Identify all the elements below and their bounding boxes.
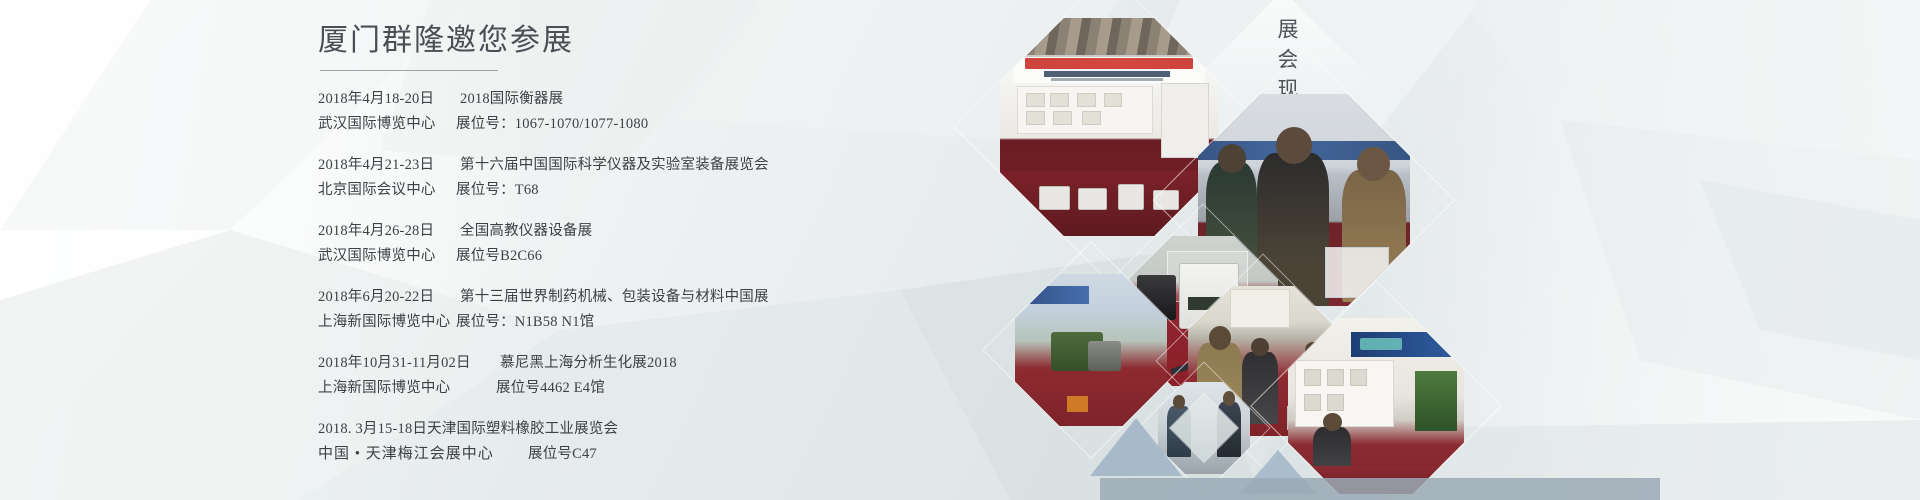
- page-title: 厦门群隆邀您参展: [318, 22, 1018, 60]
- wall-graphic: [1304, 394, 1321, 411]
- wall-graphic: [1304, 369, 1321, 386]
- event-venue: 北京国际会议中心: [318, 178, 438, 199]
- booth-banner: [1013, 55, 1205, 83]
- event-date: 2018年10月31-11月02日: [318, 351, 478, 372]
- banner-headline-bar: [1025, 58, 1194, 69]
- wall-graphic: [1327, 394, 1344, 411]
- event-name: 2018国际衡器展: [438, 87, 563, 108]
- event-date: 2018年4月21-23日: [318, 153, 438, 174]
- wall-graphic: [1104, 93, 1123, 107]
- booth-signage: [1020, 286, 1090, 304]
- instrument-unit: [1078, 188, 1106, 210]
- event-row-secondary: 上海新国际博览中心 展位号：N1B58 N1馆: [318, 310, 1018, 331]
- event-booth: 展位号：1067-1070/1077-1080: [438, 112, 648, 133]
- booth-back-wall: [1017, 86, 1152, 134]
- exhibition-info-panel: 厦门群隆邀您参展 2018年4月18-20日 2018国际衡器展 武汉国际博览中…: [318, 22, 1018, 482]
- event-venue: 上海新国际博览中心: [318, 376, 478, 397]
- wall-graphic: [1053, 111, 1072, 125]
- event-date: 2018年4月18-20日: [318, 87, 438, 108]
- wall-graphic: [1077, 93, 1096, 107]
- wall-graphic: [1327, 369, 1344, 386]
- title-underline-rule: [320, 70, 498, 71]
- booth-wall-panel: [1230, 289, 1290, 328]
- wall-graphic: [1026, 93, 1045, 107]
- event-date: 2018年6月20-22日: [318, 285, 438, 306]
- event-venue: 武汉国际博览中心: [318, 244, 438, 265]
- orange-component: [1067, 396, 1088, 413]
- event-name: 第十六届中国国际科学仪器及实验室装备展览会: [438, 153, 769, 174]
- wall-graphic: [1026, 111, 1045, 125]
- event-name: 慕尼黑上海分析生化展2018: [478, 351, 677, 372]
- event-venue: 中国 • 天津梅江会展中心: [318, 442, 528, 463]
- event-headline: 2018. 3月15-18日天津国际塑料橡胶工业展览会: [318, 417, 618, 438]
- booth-wall-panel: [1295, 360, 1394, 427]
- event-booth: 展位号：T68: [438, 178, 539, 199]
- event-booth: 展位号4462 E4馆: [478, 376, 605, 397]
- event-entry-3: 2018年4月26-28日 全国高教仪器设备展 武汉国际博览中心 展位号B2C6…: [318, 219, 1018, 265]
- event-row-primary: 2018年6月20-22日 第十三届世界制药机械、包装设备与材料中国展: [318, 285, 1018, 306]
- green-machine: [1415, 371, 1457, 431]
- event-entry-4: 2018年6月20-22日 第十三届世界制药机械、包装设备与材料中国展 上海新国…: [318, 285, 1018, 331]
- event-row-primary: 2018年4月18-20日 2018国际衡器展: [318, 87, 1018, 108]
- event-venue: 上海新国际博览中心: [318, 310, 438, 331]
- event-row-secondary: 武汉国际博览中心 展位号B2C66: [318, 244, 1018, 265]
- event-row-primary: 2018. 3月15-18日天津国际塑料橡胶工业展览会: [318, 417, 1018, 438]
- event-entry-1: 2018年4月18-20日 2018国际衡器展 武汉国际博览中心 展位号：106…: [318, 87, 1018, 133]
- instrument-unit: [1039, 186, 1070, 210]
- decorative-triangle-left: [1090, 418, 1182, 476]
- booth-logo: [1360, 338, 1402, 349]
- wall-graphic: [1082, 111, 1101, 125]
- event-entry-6: 2018. 3月15-18日天津国际塑料橡胶工业展览会 中国 • 天津梅江会展中…: [318, 417, 1018, 463]
- event-date: 2018年4月26-28日: [318, 219, 438, 240]
- machinery-booth-photo-content: [1015, 274, 1167, 426]
- instrument-unit: [1118, 184, 1144, 210]
- event-row-primary: 2018年4月21-23日 第十六届中国国际科学仪器及实验室装备展览会: [318, 153, 1018, 174]
- event-row-primary: 2018年10月31-11月02日 慕尼黑上海分析生化展2018: [318, 351, 1018, 372]
- event-row-secondary: 北京国际会议中心 展位号：T68: [318, 178, 1018, 199]
- banner-english-bar: [1051, 78, 1162, 81]
- bottom-accent-bar: [1100, 478, 1660, 500]
- event-entry-5: 2018年10月31-11月02日 慕尼黑上海分析生化展2018 上海新国际博览…: [318, 351, 1018, 397]
- event-name: 第十三届世界制药机械、包装设备与材料中国展: [438, 285, 769, 306]
- event-row-secondary: 武汉国际博览中心 展位号：1067-1070/1077-1080: [318, 112, 1018, 133]
- ceiling-truss: [1000, 18, 1218, 57]
- event-row-primary: 2018年4月26-28日 全国高教仪器设备展: [318, 219, 1018, 240]
- event-booth: 展位号C47: [528, 442, 597, 463]
- photo-collage: [1020, 0, 1400, 500]
- event-row-secondary: 中国 • 天津梅江会展中心 展位号C47: [318, 442, 1018, 463]
- product-shelf: [1161, 83, 1209, 157]
- banner-company-bar: [1044, 71, 1171, 77]
- event-name: 全国高教仪器设备展: [438, 219, 592, 240]
- event-booth: 展位号B2C66: [438, 244, 542, 265]
- event-venue: 武汉国际博览中心: [318, 112, 438, 133]
- wall-graphic: [1050, 93, 1069, 107]
- event-booth: 展位号：N1B58 N1馆: [438, 310, 594, 331]
- wall-graphic: [1350, 369, 1367, 386]
- machine-unit: [1088, 341, 1121, 371]
- event-row-secondary: 上海新国际博览中心 展位号4462 E4馆: [318, 376, 1018, 397]
- event-entry-2: 2018年4月21-23日 第十六届中国国际科学仪器及实验室装备展览会 北京国际…: [318, 153, 1018, 199]
